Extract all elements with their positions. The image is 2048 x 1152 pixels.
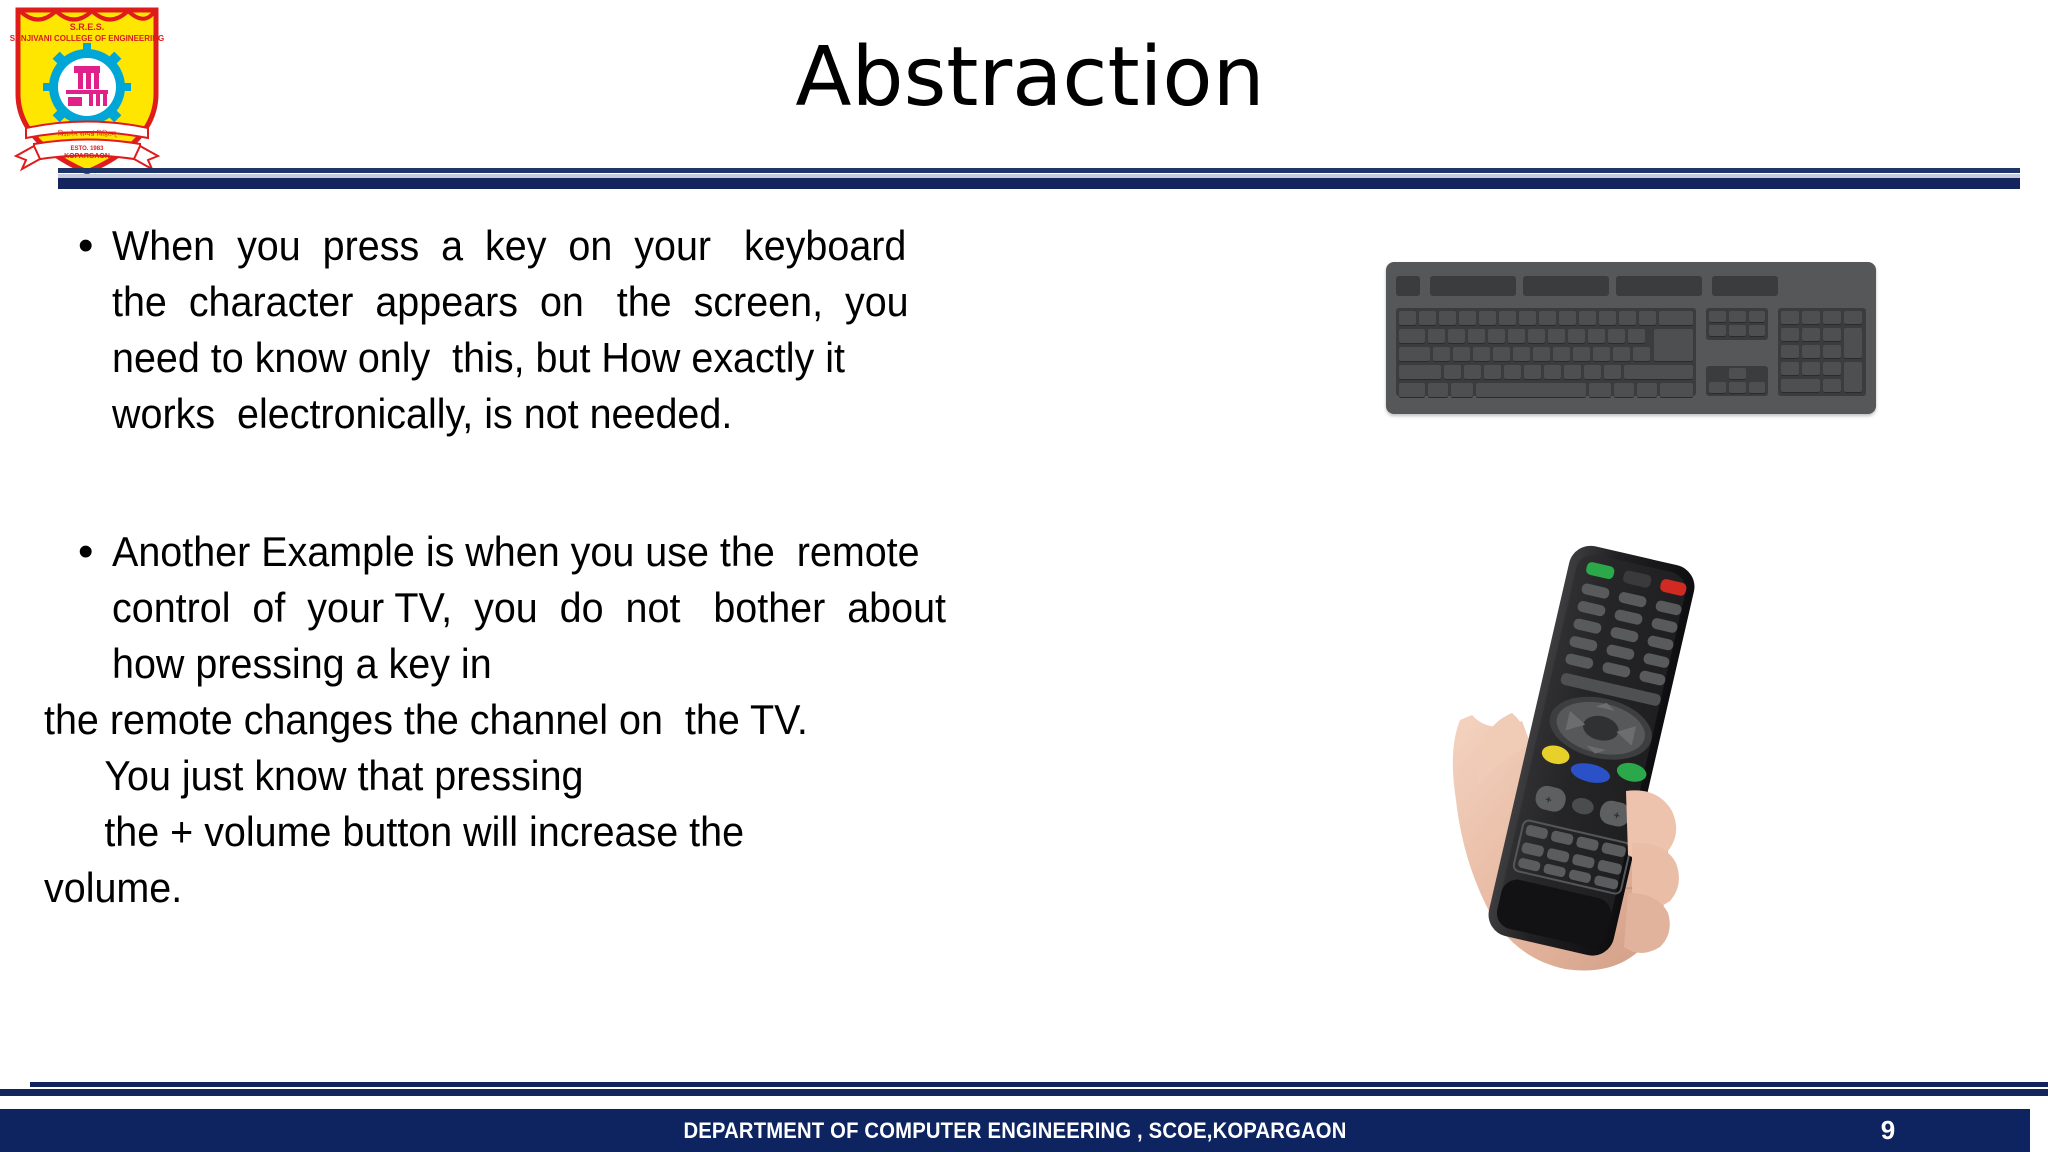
keyboard-key <box>1493 347 1510 362</box>
keyboard-numpad-key <box>1781 328 1799 342</box>
keyboard-keyplate <box>1396 272 1866 402</box>
keyboard-key <box>1519 311 1536 326</box>
keyboard-numpad-key <box>1823 311 1841 325</box>
keyboard-alt-right-key <box>1589 383 1611 398</box>
keyboard-key <box>1444 365 1461 380</box>
keyboard-numpad-key <box>1802 362 1820 376</box>
keyboard-numpad-enter-key <box>1844 362 1862 393</box>
keyboard-ctrl-left-key <box>1399 383 1425 398</box>
keyboard-space-key <box>1476 383 1586 398</box>
bullet-marker: • <box>78 524 112 580</box>
footer-divider <box>0 1082 2048 1096</box>
keyboard-key <box>1579 311 1596 326</box>
keyboard-photo <box>1386 262 1876 414</box>
slide: S.R.E.S. SANJIVANI COLLEGE OF ENGINEERIN… <box>0 0 2048 1152</box>
bullet-2-line-1: Another Example is when you use the remo… <box>112 524 1199 580</box>
keyboard-numpad-key <box>1781 362 1799 376</box>
keyboard-key <box>1468 329 1485 344</box>
keyboard-numpad-key <box>1823 345 1841 359</box>
keyboard-key <box>1608 329 1625 344</box>
bullet-1-line-4: works electronically, is not needed. <box>112 386 1199 442</box>
keyboard-chassis <box>1386 262 1876 414</box>
footer-divider-line-2 <box>0 1089 2048 1096</box>
keyboard-key <box>1613 347 1630 362</box>
keyboard-arrow-up-key <box>1729 368 1746 380</box>
keyboard-alt-left-key <box>1451 383 1473 398</box>
keyboard-key <box>1533 347 1550 362</box>
bullet-2-lines: Another Example is when you use the remo… <box>112 524 1268 692</box>
keyboard-shift-right-key <box>1624 365 1693 380</box>
keyboard-ctrl-right-key <box>1660 383 1693 398</box>
keyboard-numpad-key <box>1844 311 1862 325</box>
bullet-item-2: • Another Example is when you use the re… <box>78 524 1268 692</box>
college-logo: S.R.E.S. SANJIVANI COLLEGE OF ENGINEERIN… <box>8 2 166 180</box>
footer-bar: DEPARTMENT OF COMPUTER ENGINEERING , SCO… <box>0 1109 2030 1152</box>
page-number: 9 <box>1858 1109 1918 1152</box>
keyboard-fn-group-3 <box>1616 276 1702 296</box>
divider-line-top <box>58 168 2020 173</box>
keyboard-key <box>1628 329 1645 344</box>
keyboard-key <box>1599 311 1616 326</box>
logo-established-text: ESTO. 1983 <box>71 146 105 152</box>
keyboard-key <box>1448 329 1465 344</box>
keyboard-pagedown-key <box>1749 325 1765 337</box>
bullet-1-lines: When you press a key on your keyboard th… <box>112 218 1268 442</box>
keyboard-key <box>1564 365 1581 380</box>
bullet-item-1: • When you press a key on your keyboard … <box>78 218 1268 442</box>
keyboard-caps-key <box>1399 347 1430 362</box>
keyboard-key <box>1428 329 1445 344</box>
keyboard-end-key <box>1729 325 1746 337</box>
keyboard-key <box>1568 329 1585 344</box>
bullet-1-line-1: When you press a key on your keyboard <box>112 218 1199 274</box>
keyboard-insert-key <box>1709 311 1726 323</box>
keyboard-key <box>1488 329 1505 344</box>
keyboard-shift-left-key <box>1399 365 1441 380</box>
continuation-lines: the remote changes the channel on the TV… <box>78 692 1268 916</box>
keyboard-numpad-plus-key <box>1844 328 1862 359</box>
keyboard-numpad-key <box>1823 328 1841 342</box>
keyboard-key <box>1484 365 1501 380</box>
keyboard-numpad-key <box>1823 362 1841 376</box>
bullet-2-line-2: control of your TV, you do not bother ab… <box>112 580 1199 636</box>
title-divider <box>58 168 2020 190</box>
keyboard-numpad-key <box>1802 311 1820 325</box>
keyboard-key <box>1588 329 1605 344</box>
keyboard-key <box>1584 365 1601 380</box>
keyboard-key <box>1508 329 1525 344</box>
keyboard-key <box>1593 347 1610 362</box>
keyboard-key <box>1604 365 1621 380</box>
keyboard-key <box>1439 311 1456 326</box>
keyboard-key <box>1619 311 1636 326</box>
bullet-marker: • <box>78 218 112 274</box>
keyboard-enter-key <box>1654 329 1693 362</box>
footer-divider-line-1 <box>30 1082 2048 1087</box>
logo-abbrev-text: S.R.E.S. <box>70 22 105 32</box>
keyboard-tab-key <box>1399 329 1425 344</box>
keyboard-key <box>1544 365 1561 380</box>
hand-fingers-front <box>1624 790 1679 953</box>
keyboard-key <box>1539 311 1556 326</box>
keyboard-key <box>1399 311 1416 326</box>
keyboard-key <box>1433 347 1450 362</box>
bullet-1-line-3: need to know only this, but How exactly … <box>112 330 1199 386</box>
keyboard-key <box>1479 311 1496 326</box>
keyboard-key <box>1559 311 1576 326</box>
keyboard-key <box>1513 347 1530 362</box>
keyboard-arrow-right-key <box>1749 382 1765 394</box>
page-title: Abstraction <box>260 30 1800 126</box>
keyboard-fn-group-1 <box>1430 276 1516 296</box>
keyboard-key <box>1548 329 1565 344</box>
logo-motto-text: विज्ञानेन सम्पन्नं विहितम् <box>58 129 117 138</box>
remote-control-photo: + + <box>1430 545 1760 975</box>
keyboard-key <box>1633 347 1650 362</box>
keyboard-key <box>1573 347 1590 362</box>
keyboard-key <box>1528 329 1545 344</box>
keyboard-numpad-key <box>1781 345 1799 359</box>
keyboard-pageup-key <box>1749 311 1765 323</box>
keyboard-numpad-dot-key <box>1823 379 1841 393</box>
keyboard-key <box>1639 311 1656 326</box>
keyboard-key <box>1524 365 1541 380</box>
keyboard-win-left-key <box>1428 383 1448 398</box>
keyboard-numpad-key <box>1802 345 1820 359</box>
continuation-line-4: volume. <box>44 860 1195 916</box>
continuation-line-3: the + volume button will increase the <box>78 804 1197 860</box>
keyboard-sysreq-group <box>1712 276 1778 296</box>
continuation-line-1: the remote changes the channel on the TV… <box>44 692 1195 748</box>
footer-department-text: DEPARTMENT OF COMPUTER ENGINEERING , SCO… <box>81 1109 1949 1152</box>
bullet-1-line-2: the character appears on the screen, you <box>112 274 1199 330</box>
bullet-2-line-3: how pressing a key in <box>112 636 1199 692</box>
continuation-line-2: You just know that pressing <box>78 748 1197 804</box>
divider-line-bottom <box>58 178 2020 189</box>
paragraph-gap <box>78 442 1268 524</box>
keyboard-key <box>1419 311 1436 326</box>
keyboard-fn-group-2 <box>1523 276 1609 296</box>
keyboard-key <box>1553 347 1570 362</box>
keyboard-key <box>1504 365 1521 380</box>
keyboard-win-right-key <box>1614 383 1634 398</box>
logo-city-text: KOPARGAON <box>64 153 110 160</box>
slide-body: • When you press a key on your keyboard … <box>78 218 1268 916</box>
keyboard-delete-key <box>1709 325 1726 337</box>
logo-college-name-text: SANJIVANI COLLEGE OF ENGINEERING <box>10 34 165 43</box>
keyboard-numpad-key <box>1802 328 1820 342</box>
keyboard-key <box>1464 365 1481 380</box>
keyboard-arrow-down-key <box>1729 382 1746 394</box>
keyboard-key <box>1459 311 1476 326</box>
keyboard-numpad-key <box>1781 311 1799 325</box>
keyboard-menu-key <box>1637 383 1657 398</box>
keyboard-arrow-left-key <box>1709 382 1726 394</box>
keyboard-key <box>1499 311 1516 326</box>
keyboard-numpad-zero-key <box>1781 379 1820 393</box>
keyboard-esc-group <box>1396 276 1420 296</box>
keyboard-backspace-key <box>1659 311 1693 326</box>
keyboard-key <box>1473 347 1490 362</box>
keyboard-home-key <box>1729 311 1746 323</box>
keyboard-key <box>1453 347 1470 362</box>
